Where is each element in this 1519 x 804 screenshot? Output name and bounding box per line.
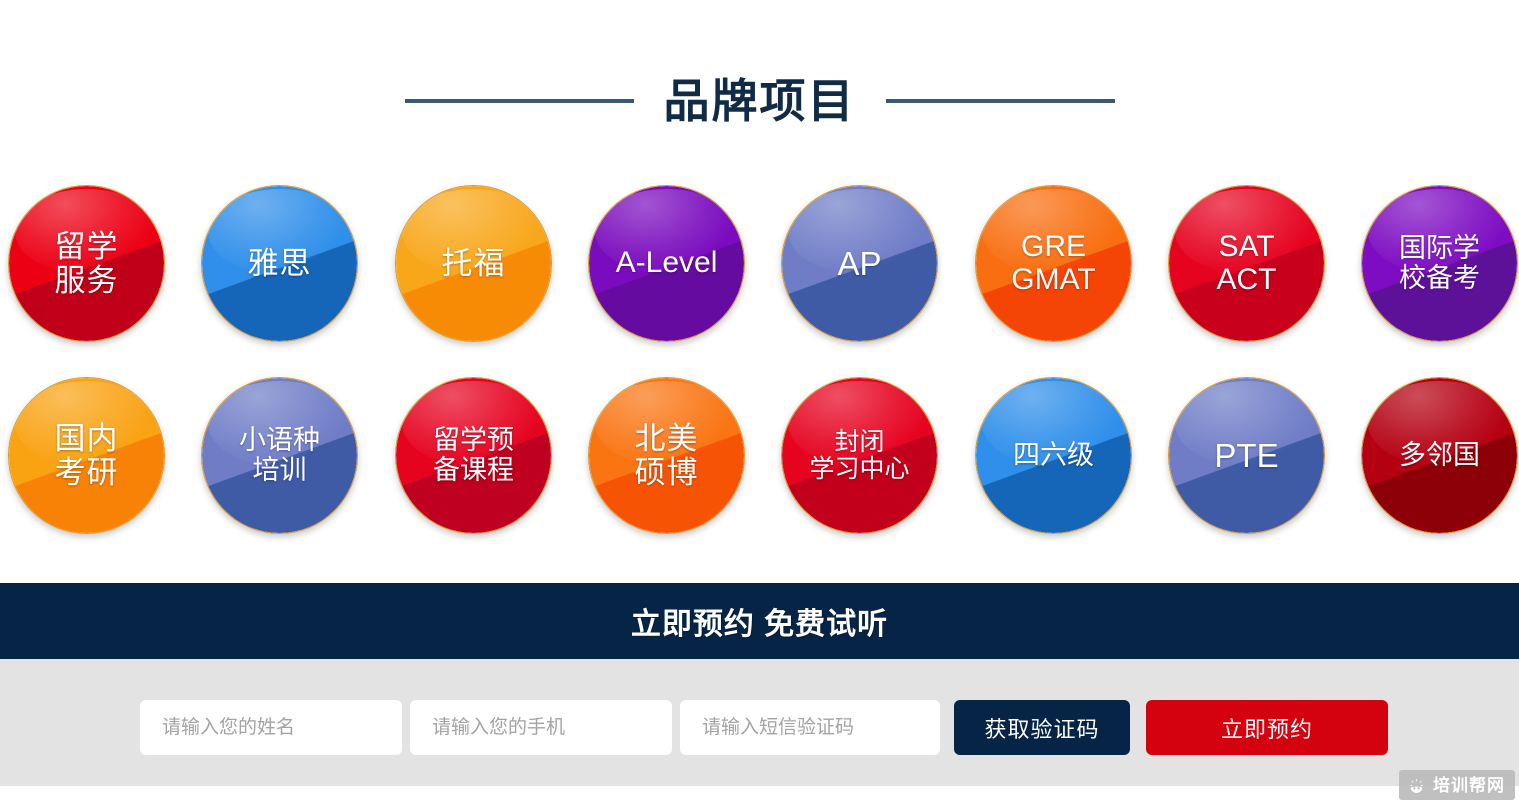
section-heading: 品牌项目 bbox=[0, 62, 1519, 140]
program-badge-line: 国内 bbox=[55, 422, 119, 455]
program-badge-label: A-Level bbox=[610, 247, 724, 279]
appointment-banner: 立即预约 免费试听 bbox=[0, 583, 1519, 659]
program-badge-label: GREGMAT bbox=[1005, 231, 1101, 296]
program-badge-line: 托福 bbox=[442, 247, 506, 280]
program-badge-label: PTE bbox=[1208, 438, 1284, 474]
program-badge-line: 留学 bbox=[55, 230, 119, 263]
appointment-form-strip: 获取验证码 立即预约 bbox=[0, 659, 1519, 786]
program-badge-label: 雅思 bbox=[242, 247, 318, 280]
program-badge[interactable]: 国际学校备考 bbox=[1361, 185, 1518, 342]
program-badge[interactable]: 留学预备课程 bbox=[395, 377, 552, 534]
program-badge[interactable]: AP bbox=[781, 185, 938, 342]
program-badge-line: ACT bbox=[1217, 264, 1277, 296]
program-badge[interactable]: 国内考研 bbox=[8, 377, 165, 534]
submit-appointment-button[interactable]: 立即预约 bbox=[1146, 700, 1388, 755]
program-row-2: 国内考研小语种培训留学预备课程北美硕博封闭学习中心四六级PTE多邻国 bbox=[8, 377, 1519, 534]
program-badge-line: 国际学 bbox=[1399, 234, 1480, 263]
phone-input[interactable] bbox=[410, 700, 672, 755]
program-badge[interactable]: 北美硕博 bbox=[588, 377, 745, 534]
name-input[interactable] bbox=[140, 700, 402, 755]
program-badge-line: GRE bbox=[1011, 231, 1095, 263]
program-badge-line: 硕博 bbox=[635, 456, 699, 489]
brand-programs-page: 品牌项目 留学服务雅思托福A-LevelAPGREGMATSATACT国际学校备… bbox=[0, 0, 1519, 804]
program-badge-line: SAT bbox=[1217, 231, 1277, 263]
program-badge-line: 北美 bbox=[635, 422, 699, 455]
program-badge[interactable]: 小语种培训 bbox=[201, 377, 358, 534]
program-badge[interactable]: 留学服务 bbox=[8, 185, 165, 342]
program-badge[interactable]: GREGMAT bbox=[975, 185, 1132, 342]
appointment-form: 获取验证码 立即预约 bbox=[140, 700, 1388, 755]
program-badge-label: 小语种培训 bbox=[233, 426, 326, 484]
program-badge-line: AP bbox=[837, 246, 881, 282]
program-badge[interactable]: A-Level bbox=[588, 185, 745, 342]
program-badge-line: 多邻国 bbox=[1399, 441, 1480, 470]
sms-code-input[interactable] bbox=[680, 700, 940, 755]
program-badge-line: 培训 bbox=[239, 456, 320, 485]
program-badge-line: PTE bbox=[1214, 438, 1278, 474]
program-badge[interactable]: 托福 bbox=[395, 185, 552, 342]
program-badge-line: 服务 bbox=[55, 264, 119, 297]
program-badge-label: 北美硕博 bbox=[629, 422, 705, 489]
program-badge-label: 留学预备课程 bbox=[427, 426, 520, 484]
program-badge-line: A-Level bbox=[616, 247, 718, 279]
watermark-label: 培训帮网 bbox=[1433, 777, 1505, 794]
program-badge-line: 雅思 bbox=[248, 247, 312, 280]
program-badge-line: 封闭 bbox=[809, 429, 909, 456]
program-badge[interactable]: 四六级 bbox=[975, 377, 1132, 534]
program-badge-line: 四六级 bbox=[1013, 441, 1094, 470]
get-sms-code-button[interactable]: 获取验证码 bbox=[954, 700, 1130, 755]
program-badge[interactable]: PTE bbox=[1168, 377, 1325, 534]
program-badge[interactable]: SATACT bbox=[1168, 185, 1325, 342]
program-badge-line: GMAT bbox=[1011, 264, 1095, 296]
program-badge-grid: 留学服务雅思托福A-LevelAPGREGMATSATACT国际学校备考 国内考… bbox=[8, 185, 1519, 535]
program-badge-label: 留学服务 bbox=[49, 230, 125, 297]
program-badge-label: 封闭学习中心 bbox=[803, 429, 915, 483]
sun-eye-icon bbox=[1407, 776, 1426, 795]
program-badge-label: 国际学校备考 bbox=[1393, 234, 1486, 292]
program-badge-line: 校备考 bbox=[1399, 264, 1480, 293]
program-badge-label: 多邻国 bbox=[1393, 441, 1486, 470]
site-watermark: 培训帮网 bbox=[1399, 770, 1515, 800]
program-badge-line: 备课程 bbox=[433, 456, 514, 485]
heading-rule-left bbox=[405, 99, 634, 103]
program-row-1: 留学服务雅思托福A-LevelAPGREGMATSATACT国际学校备考 bbox=[8, 185, 1519, 342]
program-badge[interactable]: 多邻国 bbox=[1361, 377, 1518, 534]
program-badge-label: 托福 bbox=[436, 247, 512, 280]
heading-rule-right bbox=[886, 99, 1115, 103]
program-badge-line: 留学预 bbox=[433, 426, 514, 455]
page-title: 品牌项目 bbox=[664, 78, 856, 124]
program-badge[interactable]: 封闭学习中心 bbox=[781, 377, 938, 534]
program-badge-label: 国内考研 bbox=[49, 422, 125, 489]
program-badge-line: 学习中心 bbox=[809, 456, 909, 483]
program-badge-line: 考研 bbox=[55, 456, 119, 489]
program-badge-label: AP bbox=[831, 246, 887, 282]
program-badge-label: SATACT bbox=[1211, 231, 1283, 296]
program-badge[interactable]: 雅思 bbox=[201, 185, 358, 342]
program-badge-line: 小语种 bbox=[239, 426, 320, 455]
appointment-banner-text: 立即预约 免费试听 bbox=[631, 599, 888, 643]
program-badge-label: 四六级 bbox=[1007, 441, 1100, 470]
